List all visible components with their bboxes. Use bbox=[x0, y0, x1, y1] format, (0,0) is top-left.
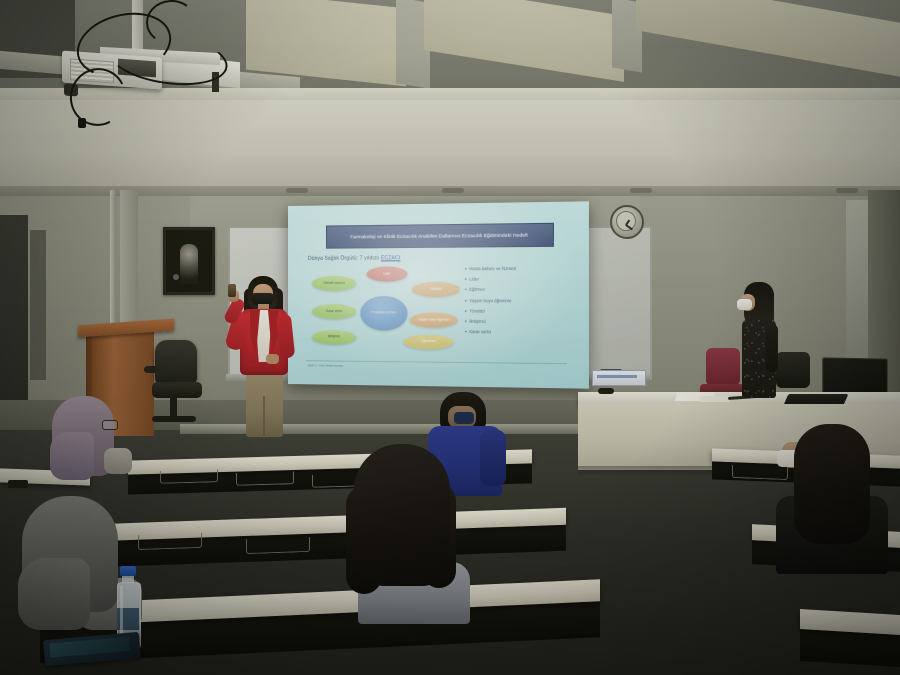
slide-subtitle-emphasis: ECZACI bbox=[381, 255, 400, 261]
desk-sign bbox=[592, 370, 646, 386]
student-face-mask bbox=[454, 412, 474, 424]
right-window bbox=[846, 200, 868, 370]
student-hijab-fold bbox=[18, 558, 90, 630]
student-hair bbox=[794, 424, 870, 544]
desk-book-rack bbox=[236, 471, 294, 486]
bullet-text: Yaşam boyu öğrenme bbox=[469, 298, 511, 303]
student-shoulder bbox=[480, 430, 506, 486]
student-long-dark-hair bbox=[336, 444, 472, 624]
classroom-photo: Farmakoloji ve Klinik Eczacılık Anabilim… bbox=[0, 0, 900, 675]
portrait-figure bbox=[180, 244, 198, 284]
bullet-item: ✦Eğitmen bbox=[464, 288, 571, 293]
desk-book-rack bbox=[160, 469, 218, 484]
student-hair bbox=[354, 444, 450, 586]
projection-screen: Farmakoloji ve Klinik Eczacılık Anabilim… bbox=[288, 201, 589, 388]
student-hijab-drape bbox=[50, 432, 94, 480]
ceiling-soffit bbox=[0, 100, 900, 192]
diagram-ellipse: İletişimci bbox=[312, 330, 356, 344]
bullet-text: İletişimci bbox=[469, 319, 486, 324]
bullet-item: ✦Lider bbox=[464, 277, 571, 282]
bullet-text: Yönetici bbox=[469, 308, 484, 313]
bullet-item: ✦İletişimci bbox=[464, 320, 571, 325]
clock-face bbox=[616, 211, 636, 231]
assistant-arm bbox=[766, 324, 778, 372]
slide-bullet-list: ✦Hasta bakımı ve hizmeti ✦Lider ✦Eğitmen… bbox=[464, 267, 571, 342]
desk-object bbox=[598, 388, 614, 394]
projector-cable-end bbox=[78, 118, 86, 128]
diagram-ellipse: Lider bbox=[366, 266, 407, 281]
office-chair-seat bbox=[152, 382, 202, 398]
diagram-ellipse: Öğretmen bbox=[403, 335, 453, 350]
diagram-ellipse: Hizmet sunucu bbox=[312, 276, 356, 291]
bullet-item: ✦Yönetici bbox=[464, 309, 571, 314]
presenter-leg-seam bbox=[263, 396, 265, 438]
student-black-top-right bbox=[774, 424, 890, 574]
bullet-item: ✦Karar verici bbox=[464, 330, 571, 335]
student-mauve-hijab bbox=[46, 396, 124, 480]
slide-content: Farmakoloji ve Klinik Eczacılık Anabilim… bbox=[294, 208, 582, 383]
bottle-neck bbox=[122, 575, 134, 583]
office-chair-post bbox=[170, 396, 177, 418]
slide-title-bar: Farmakoloji ve Klinik Eczacılık Anabilim… bbox=[326, 223, 554, 249]
slide-footer: Şekil 1. Yedi yıldızlı eczacı bbox=[308, 363, 494, 369]
student-sleeve bbox=[104, 448, 132, 474]
recessed-light-icon bbox=[286, 188, 308, 193]
portrait-highlight bbox=[173, 274, 179, 280]
bullet-text: Karar verici bbox=[469, 329, 491, 334]
bullet-item: ✦Yaşam boyu öğrenme bbox=[464, 299, 571, 304]
glasses-icon bbox=[102, 420, 118, 430]
assistant-face-mask bbox=[737, 299, 752, 310]
bullet-text: Lider bbox=[469, 277, 479, 282]
bottle-cap bbox=[120, 566, 136, 576]
office-chair-base bbox=[152, 416, 196, 422]
bullet-text: Hasta bakımı ve hizmeti bbox=[469, 266, 516, 271]
slide-subtitle: Dünya Sağlık Örgütü: 7 yıldızlı ECZACI bbox=[308, 255, 504, 262]
presenter-hand-right bbox=[266, 354, 279, 364]
desk-book-rack bbox=[246, 537, 310, 554]
recessed-light-icon bbox=[836, 188, 858, 193]
wall-clock-icon bbox=[610, 205, 644, 239]
assistant-standing bbox=[736, 282, 782, 400]
slide-subtitle-prefix: Dünya Sağlık Örgütü: 7 yıldızlı bbox=[308, 255, 381, 262]
recessed-light-icon bbox=[442, 188, 464, 193]
presenter-arm-right bbox=[276, 313, 296, 358]
desk-item bbox=[8, 480, 28, 488]
papers-on-desk bbox=[699, 396, 730, 402]
presentation-remote bbox=[228, 284, 236, 297]
presenter bbox=[222, 276, 302, 440]
recessed-light-icon bbox=[630, 188, 652, 193]
office-chair-backrest bbox=[155, 340, 197, 384]
diagram-ellipse: Yaşam boyu öğrenen bbox=[410, 312, 458, 328]
slide-title-text: Farmakoloji ve Klinik Eczacılık Anabilim… bbox=[347, 232, 531, 240]
diagram-center-node: 7 YILDIZLI ECZACI bbox=[360, 296, 407, 331]
clock-minute-hand bbox=[626, 224, 633, 230]
diagram-ellipse: Karar verici bbox=[312, 304, 356, 319]
bullet-text: Eğitmen bbox=[469, 287, 485, 292]
framed-portrait bbox=[163, 227, 215, 295]
phone-screen bbox=[49, 637, 130, 658]
desk-sign-bar bbox=[597, 375, 637, 378]
diagram-ellipse: Yönetici bbox=[412, 282, 460, 297]
red-chair-backrest bbox=[706, 348, 740, 386]
bullet-item: ✦Hasta bakımı ve hizmeti bbox=[464, 267, 571, 272]
doorway-secondary bbox=[30, 230, 46, 380]
